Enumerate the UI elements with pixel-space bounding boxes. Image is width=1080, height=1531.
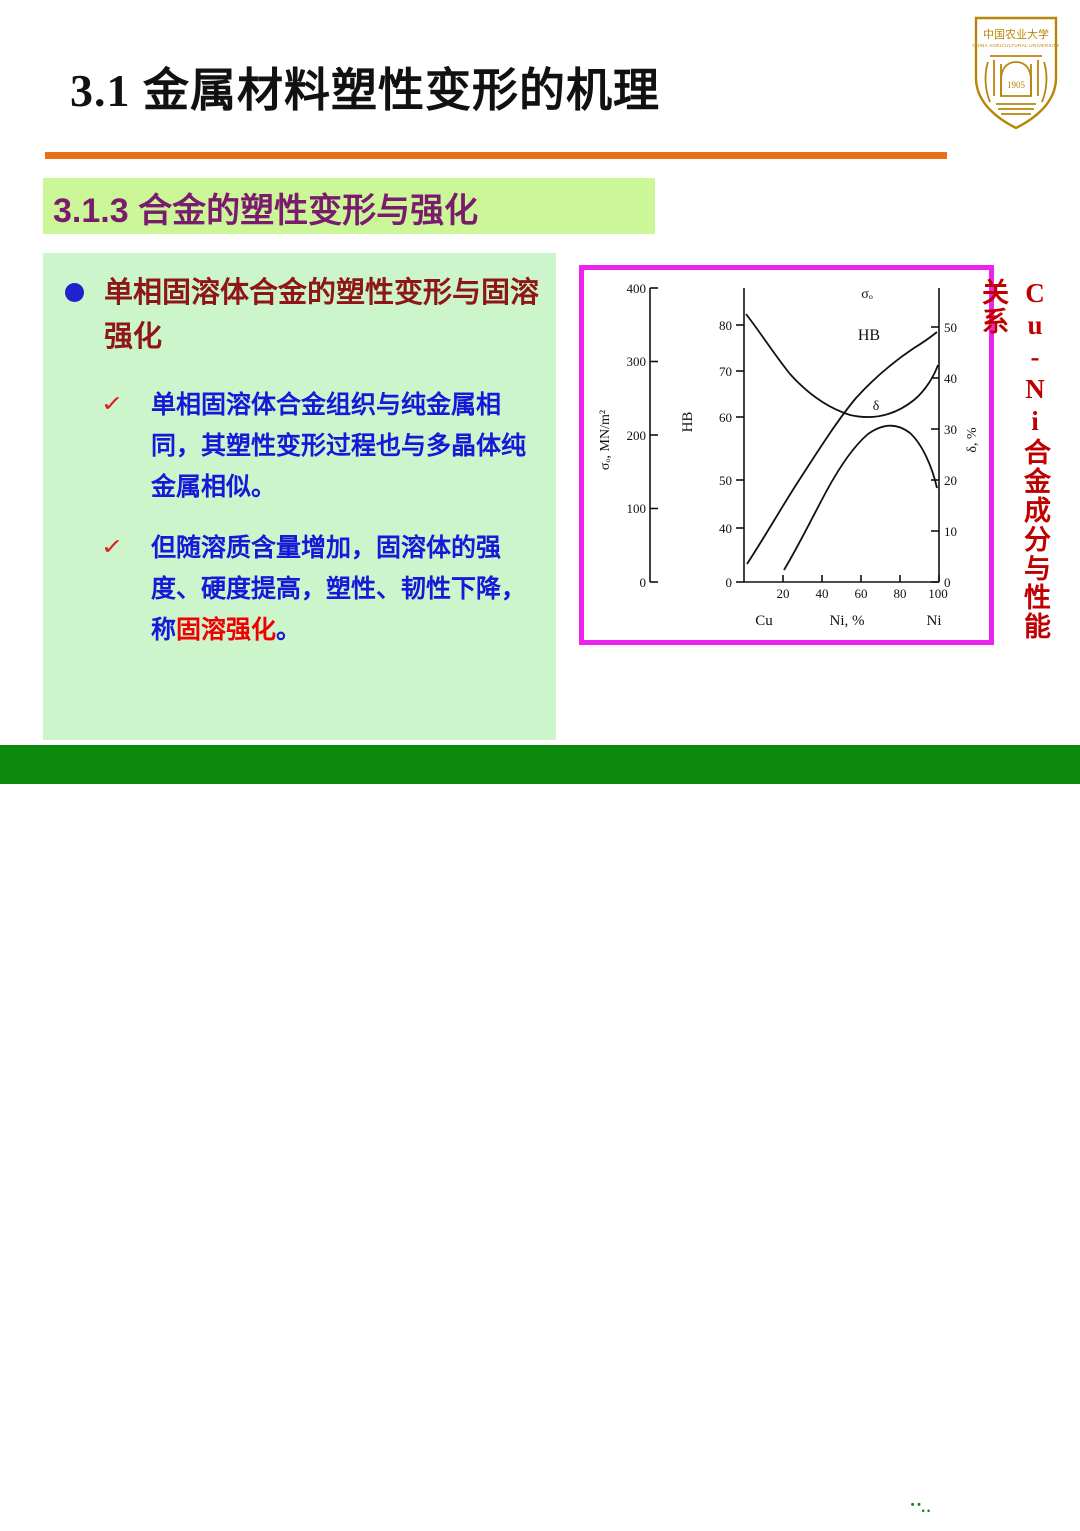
sigma-b-curve-label: σₒ <box>861 287 873 302</box>
lead-bullet-text: 单相固溶体合金的塑性变形与固溶强化 <box>104 271 554 359</box>
delta-curve-label: δ <box>873 399 880 414</box>
list-item-text-highlight: 固溶强化 <box>176 617 276 644</box>
svg-text:60: 60 <box>855 586 868 601</box>
svg-text:0: 0 <box>726 575 733 590</box>
svg-text:40: 40 <box>944 371 957 386</box>
svg-text:80: 80 <box>719 318 732 333</box>
svg-text:10: 10 <box>944 524 957 539</box>
svg-text:0: 0 <box>640 575 647 590</box>
delta-axis-label: δ, % <box>965 427 980 453</box>
svg-text:50: 50 <box>944 320 957 335</box>
content-panel: 单相固溶体合金的塑性变形与固溶强化 ✓ 单相固溶体合金组织与纯金属相同，其塑性变… <box>43 253 556 740</box>
page-title: 3.1 金属材料塑性变形的机理 <box>70 54 660 120</box>
svg-text:100: 100 <box>928 586 948 601</box>
check-icon: ✓ <box>101 534 124 560</box>
svg-text:20: 20 <box>944 473 957 488</box>
x-axis-left-endpoint-label: Cu <box>755 613 773 629</box>
svg-text:100: 100 <box>627 501 647 516</box>
university-logo-english: CHINA AGRICULTURAL UNIVERSITY <box>972 43 1060 48</box>
slide-root: 3.1 金属材料塑性变形的机理 3.1.3 合金的塑性变形与强化 单相固溶体合金… <box>0 0 1080 784</box>
university-logo-name: 中国农业大学 <box>983 27 1049 41</box>
svg-text:70: 70 <box>719 364 732 379</box>
svg-text:50: 50 <box>719 473 732 488</box>
check-icon: ✓ <box>101 391 124 417</box>
svg-text:40: 40 <box>816 586 829 601</box>
hb-curve-label: HB <box>858 327 880 344</box>
x-axis-right-endpoint-label: Ni <box>927 613 942 629</box>
wechat-icon <box>905 1497 935 1522</box>
figure-chart-frame: 400 300 200 100 0 σₒ, MN/m² 80 70 60 <box>579 265 994 645</box>
cu-ni-property-chart: 400 300 200 100 0 σₒ, MN/m² 80 70 60 <box>584 270 989 640</box>
bottom-bar: 材易通 <box>0 745 1080 784</box>
sigma-b-axis-label: σₒ, MN/m² <box>598 410 613 470</box>
list-item-text: 但随溶质含量增加，固溶体的强度、硬度提高，塑性、韧性下降，称固溶强化。 <box>151 528 531 651</box>
section-heading-text: 3.1.3 合金的塑性变形与强化 <box>53 183 478 232</box>
university-logo-year: 1905 <box>1007 80 1026 90</box>
figure-vertical-caption: Cu-Ni合金成分与性能关系 <box>1012 278 1056 658</box>
bottom-bar-label: 材易通 <box>944 1495 1022 1531</box>
bullet-dot-icon <box>65 283 84 302</box>
hb-axis-label: HB <box>680 412 696 433</box>
university-logo: 中国农业大学 CHINA AGRICULTURAL UNIVERSITY 190… <box>968 12 1064 132</box>
list-item-text: 单相固溶体合金组织与纯金属相同，其塑性变形过程也与多晶体纯金属相似。 <box>151 385 531 508</box>
section-heading-band: 3.1.3 合金的塑性变形与强化 <box>43 178 655 234</box>
svg-text:40: 40 <box>719 521 732 536</box>
list-item-text-main: 单相固溶体合金组织与纯金属相同，其塑性变形过程也与多晶体纯金属相似。 <box>151 392 526 501</box>
svg-text:30: 30 <box>944 422 957 437</box>
svg-text:300: 300 <box>627 354 647 369</box>
svg-text:200: 200 <box>627 428 647 443</box>
svg-text:20: 20 <box>777 586 790 601</box>
svg-text:400: 400 <box>627 281 647 296</box>
svg-text:60: 60 <box>719 410 732 425</box>
x-axis-label: Ni, % <box>830 613 865 629</box>
list-item-text-tail: 。 <box>276 617 301 644</box>
svg-text:80: 80 <box>894 586 907 601</box>
title-divider-rule <box>45 152 947 159</box>
